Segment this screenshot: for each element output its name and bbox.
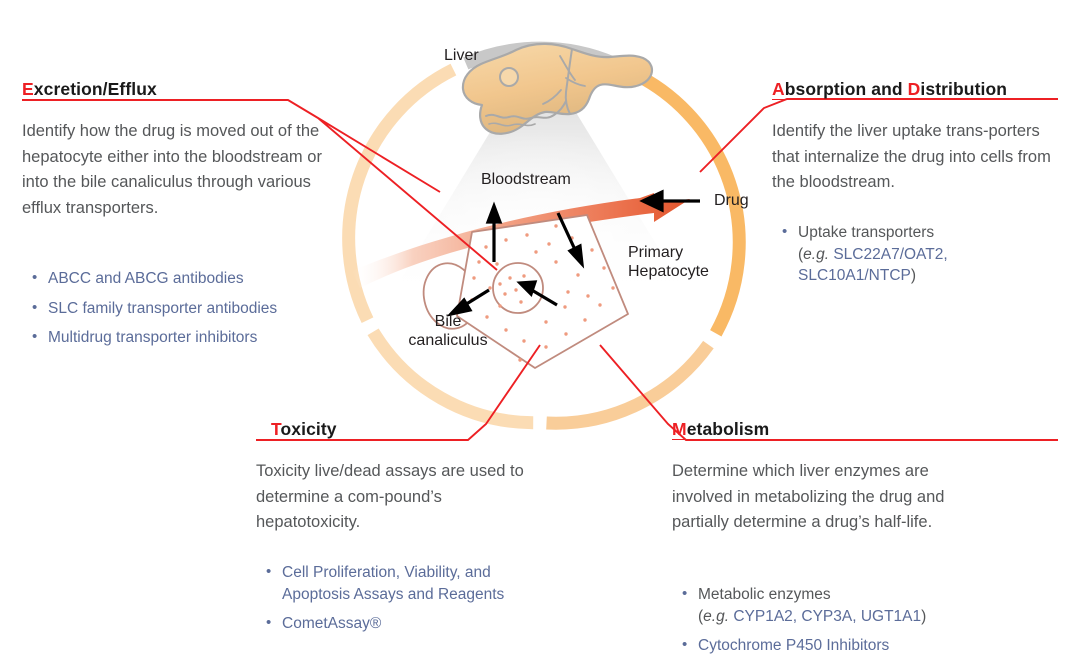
list-item[interactable]: Multidrug transporter inhibitors bbox=[30, 327, 330, 349]
section-heading-absorption: Absorption and Distribution bbox=[772, 79, 1007, 100]
diagram-canvas: Excretion/Efflux Identify how the drug i… bbox=[0, 0, 1080, 669]
toxicity-title-rest: oxicity bbox=[281, 419, 337, 439]
label-liver: Liver bbox=[444, 46, 479, 65]
section-list-excretion: ABCC and ABCG antibodies SLC family tran… bbox=[30, 268, 330, 357]
section-list-absorption: Uptake transporters(e.g. SLC22A7/OAT2, S… bbox=[780, 222, 1060, 295]
section-heading-toxicity: Toxicity bbox=[271, 419, 337, 440]
metabolism-title-rest: etabolism bbox=[687, 419, 770, 439]
label-bile-canaliculus: Bile canaliculus bbox=[400, 312, 496, 350]
list-item[interactable]: Metabolic enzymes(e.g. CYP1A2, CYP3A, UG… bbox=[680, 584, 980, 627]
absorption-title-rest: istribution bbox=[920, 79, 1007, 99]
section-body-metabolism: Determine which liver enzymes are involv… bbox=[672, 459, 962, 536]
excretion-title-rest: xcretion/Efflux bbox=[34, 79, 157, 99]
toxicity-key-letter: T bbox=[271, 419, 281, 440]
label-bloodstream: Bloodstream bbox=[481, 170, 571, 189]
list-item[interactable]: Uptake transporters(e.g. SLC22A7/OAT2, S… bbox=[780, 222, 1060, 287]
list-item[interactable]: Cell Proliferation, Viability, and Apopt… bbox=[264, 562, 554, 605]
section-body-absorption: Identify the liver uptake trans-porters … bbox=[772, 119, 1062, 196]
absorption-title-mid: bsorption and bbox=[785, 79, 908, 99]
section-list-toxicity: Cell Proliferation, Viability, and Apopt… bbox=[264, 562, 554, 643]
distribution-key-letter: D bbox=[908, 79, 921, 100]
section-heading-metabolism: Metabolism bbox=[672, 419, 769, 440]
label-drug: Drug bbox=[714, 191, 749, 210]
section-body-toxicity: Toxicity live/dead assays are used to de… bbox=[256, 459, 536, 536]
leader-metabolism bbox=[600, 345, 1058, 440]
label-primary-hepatocyte: Primary Hepatocyte bbox=[628, 243, 738, 281]
list-item[interactable]: SLC family transporter antibodies bbox=[30, 298, 330, 320]
list-item[interactable]: CometAssay® bbox=[264, 613, 554, 635]
excretion-key-letter: E bbox=[22, 79, 34, 100]
section-list-metabolism: Metabolic enzymes(e.g. CYP1A2, CYP3A, UG… bbox=[680, 584, 980, 665]
list-item[interactable]: Cytochrome P450 Inhibitors bbox=[680, 635, 980, 657]
section-body-excretion: Identify how the drug is moved out of th… bbox=[22, 119, 322, 221]
section-heading-excretion: Excretion/Efflux bbox=[22, 79, 157, 100]
absorption-key-letter: A bbox=[772, 79, 785, 100]
metabolism-key-letter: M bbox=[672, 419, 687, 440]
list-item[interactable]: ABCC and ABCG antibodies bbox=[30, 268, 330, 290]
